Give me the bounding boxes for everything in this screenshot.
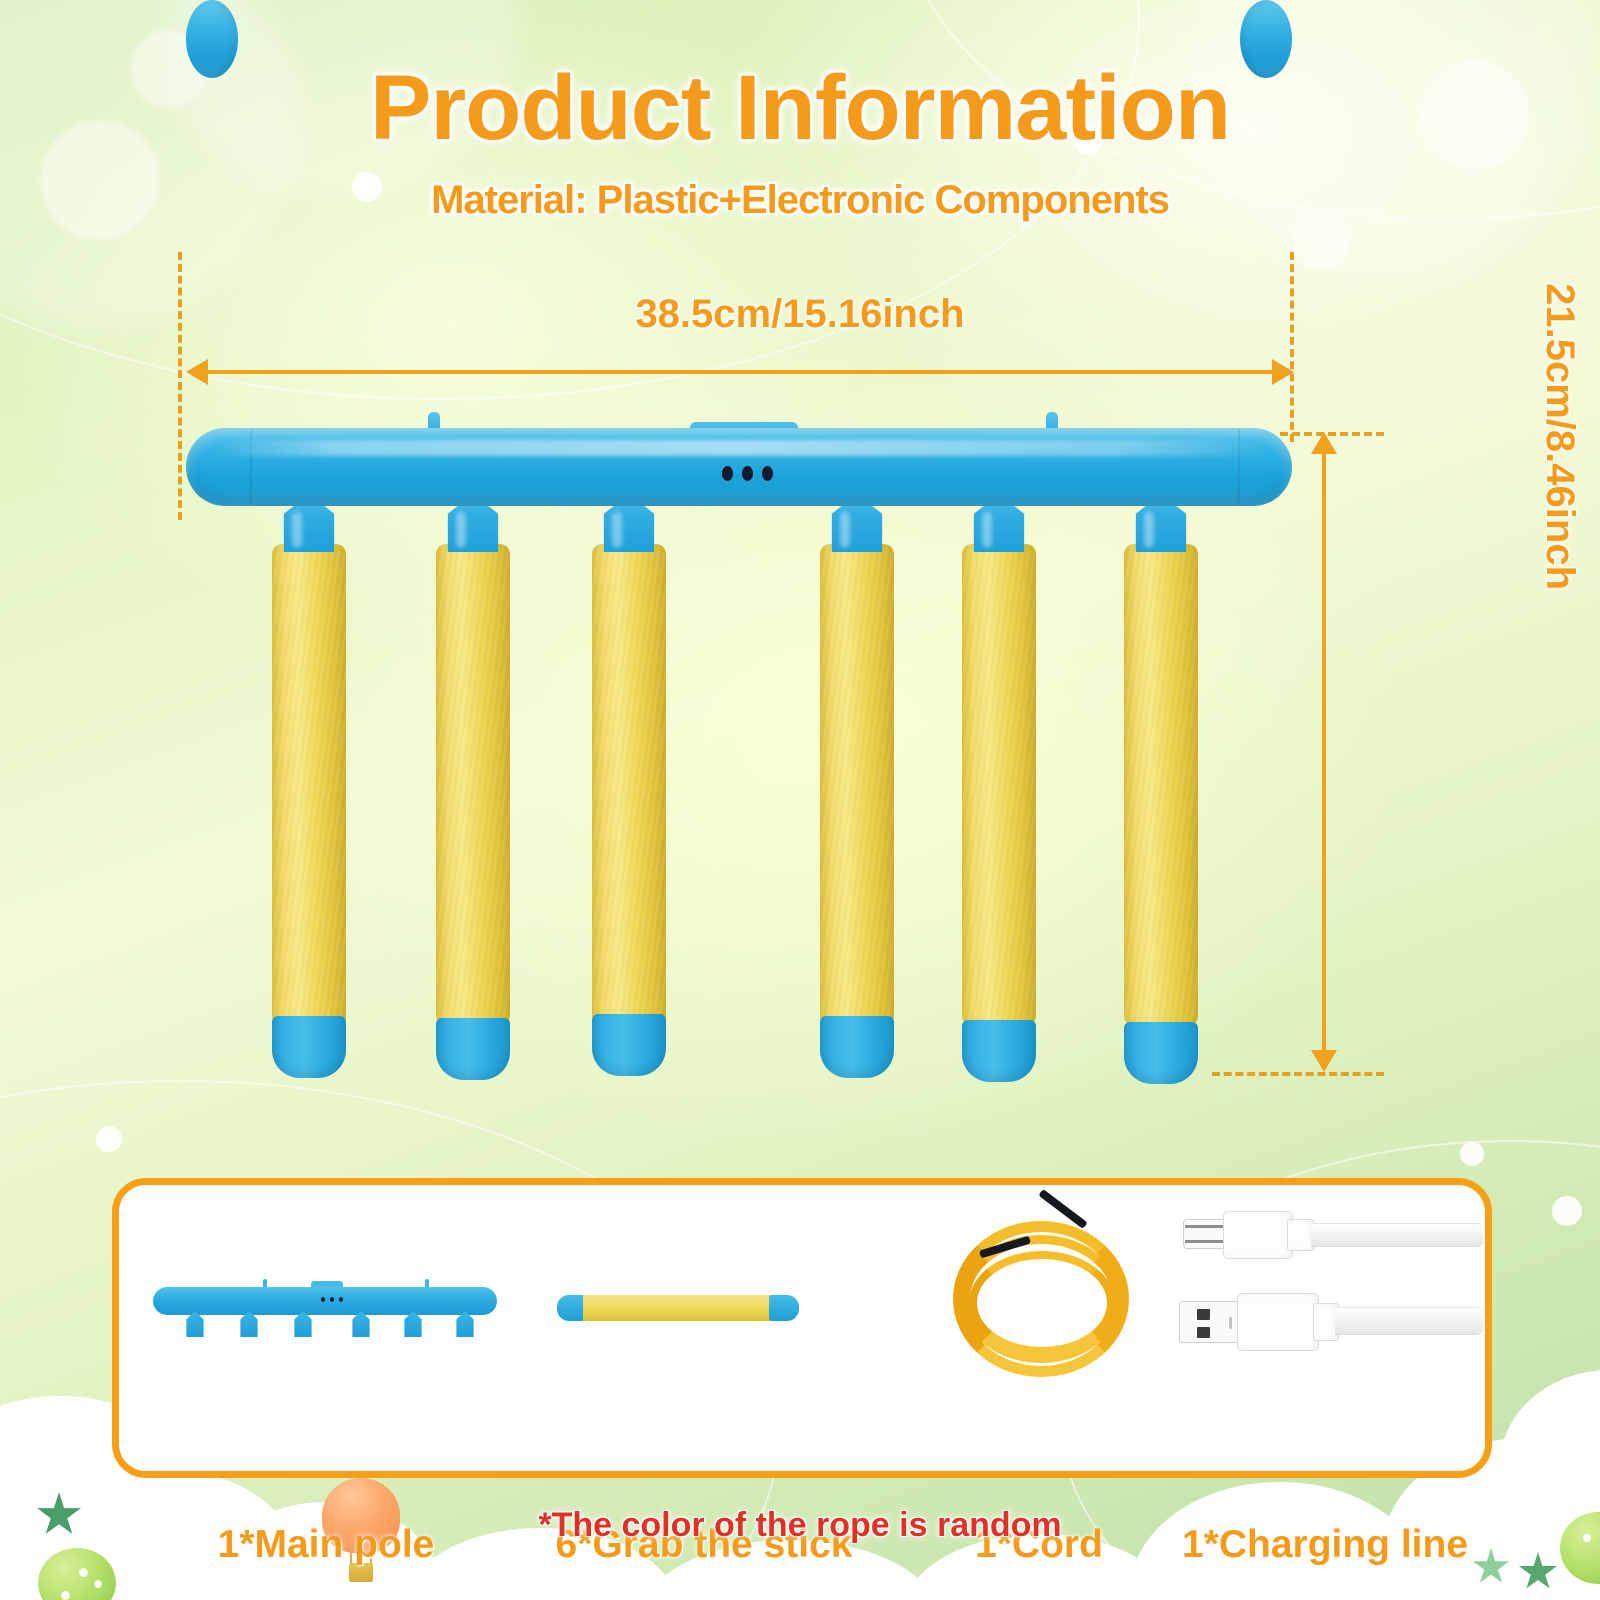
main-pole-endcap-right — [1240, 0, 1292, 78]
joint-gloss — [456, 512, 466, 548]
accessory-cord: 1*Cord — [909, 1185, 1169, 1471]
grab-stick — [592, 544, 666, 1026]
grab-stick — [1124, 544, 1198, 1026]
accessories-panel: 1*Main pole 6*Grab the stick 1*Cord — [112, 1178, 1492, 1478]
grab-stick — [962, 544, 1036, 1026]
cord-icon — [943, 1199, 1143, 1387]
charging-line-icon — [1175, 1197, 1483, 1387]
led-indicator — [742, 466, 753, 481]
grab-stick — [272, 544, 346, 1026]
stick-end-cap — [436, 1018, 510, 1080]
grab-stick-icon — [557, 1233, 853, 1349]
led-indicator — [762, 466, 773, 481]
green-ball — [38, 1548, 116, 1600]
bar-gloss — [210, 440, 1270, 456]
joint-gloss — [982, 512, 992, 548]
white-dot — [1460, 1142, 1484, 1166]
stick-end-cap — [592, 1014, 666, 1076]
white-dot — [1552, 1196, 1582, 1226]
grab-stick — [436, 544, 510, 1026]
product-information-infographic: Product Information Material: Plastic+El… — [0, 0, 1600, 1600]
accessory-main-pole: 1*Main pole — [153, 1185, 499, 1471]
joint-gloss — [292, 512, 302, 548]
grab-stick — [820, 544, 894, 1026]
joint-gloss — [612, 512, 622, 548]
product-illustration — [0, 0, 1600, 1130]
stick-end-cap — [1124, 1022, 1198, 1084]
accessory-charging-line: 1*Charging line — [1165, 1185, 1485, 1471]
led-indicator — [722, 466, 733, 481]
stick-end-cap — [820, 1016, 894, 1078]
rope-color-note: *The color of the rope is random — [0, 1506, 1600, 1545]
main-pole-icon — [153, 1233, 499, 1349]
joint-gloss — [840, 512, 850, 548]
stick-end-cap — [962, 1020, 1036, 1082]
accessory-grab-stick: 6*Grab the stick — [529, 1185, 879, 1471]
joint-gloss — [1144, 512, 1154, 548]
main-pole-endcap-left — [186, 0, 238, 78]
stick-end-cap — [272, 1016, 346, 1078]
star-icon — [1518, 1552, 1558, 1592]
